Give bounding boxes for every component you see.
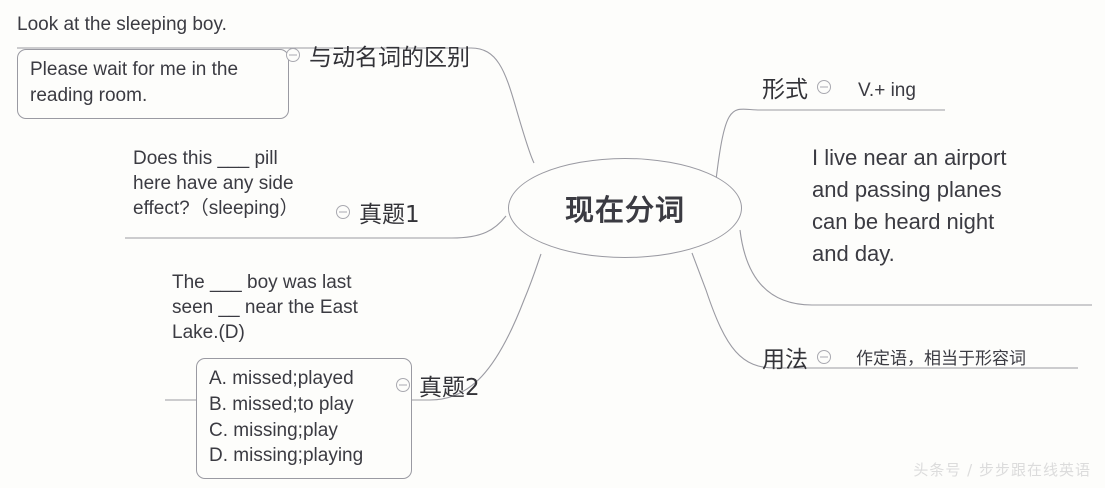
leaf-missing-boy-options-text: A. missed;played B. missed;to play C. mi… [209,366,399,469]
central-topic[interactable]: 现在分词 [508,158,742,258]
leaf-missing-boy-options[interactable]: A. missed;played B. missed;to play C. mi… [196,358,412,479]
branch-usage[interactable]: 用法 [762,340,831,374]
branch-form[interactable]: 形式 [762,70,831,104]
leaf-v-plus-ing-text: V.+ ing [858,78,916,103]
leaf-sleeping-boy[interactable]: Look at the sleeping boy. [17,12,277,37]
leaf-sleeping-boy-text: Look at the sleeping boy. [17,12,277,37]
leaf-pill-question[interactable]: Does this ___ pill here have any side ef… [133,146,343,221]
collapse-circle-icon[interactable] [336,205,350,219]
watermark: 头条号 / 步步跟在线英语 [913,459,1091,480]
branch-gerund-difference-label: 与动名词的区别 [309,38,470,72]
central-topic-label: 现在分词 [565,187,685,229]
branch-exam-question-2-label: 真题2 [419,368,480,402]
leaf-reading-room-text: Please wait for me in the reading room. [30,57,276,109]
collapse-circle-icon[interactable] [286,48,300,62]
branch-usage-label: 用法 [762,340,808,374]
leaf-pill-question-text: Does this ___ pill here have any side ef… [133,146,343,221]
branch-gerund-difference[interactable]: 与动名词的区别 [286,38,470,72]
collapse-circle-icon[interactable] [817,80,831,94]
leaf-attributive-usage[interactable]: 作定语，相当于形容词 [856,348,1026,370]
leaf-v-plus-ing[interactable]: V.+ ing [858,78,916,103]
branch-example-sentence[interactable]: I live near an airport and passing plane… [812,142,1082,270]
branch-exam-question-1-label: 真题1 [359,195,420,229]
branch-form-label: 形式 [762,70,808,104]
branch-example-sentence-label: I live near an airport and passing plane… [812,142,1082,270]
branch-exam-question-2[interactable]: 真题2 [396,368,480,402]
collapse-circle-icon[interactable] [817,350,831,364]
leaf-missing-boy-stem-text: The ___ boy was last seen __ near the Ea… [172,270,387,345]
leaf-missing-boy-stem[interactable]: The ___ boy was last seen __ near the Ea… [172,270,387,345]
mindmap-canvas: 现在分词 Look at the sleeping boy. Please wa… [0,0,1105,488]
leaf-reading-room[interactable]: Please wait for me in the reading room. [17,49,289,119]
branch-exam-question-1[interactable]: 真题1 [336,195,420,229]
collapse-circle-icon[interactable] [396,378,410,392]
leaf-attributive-usage-text: 作定语，相当于形容词 [856,348,1026,370]
